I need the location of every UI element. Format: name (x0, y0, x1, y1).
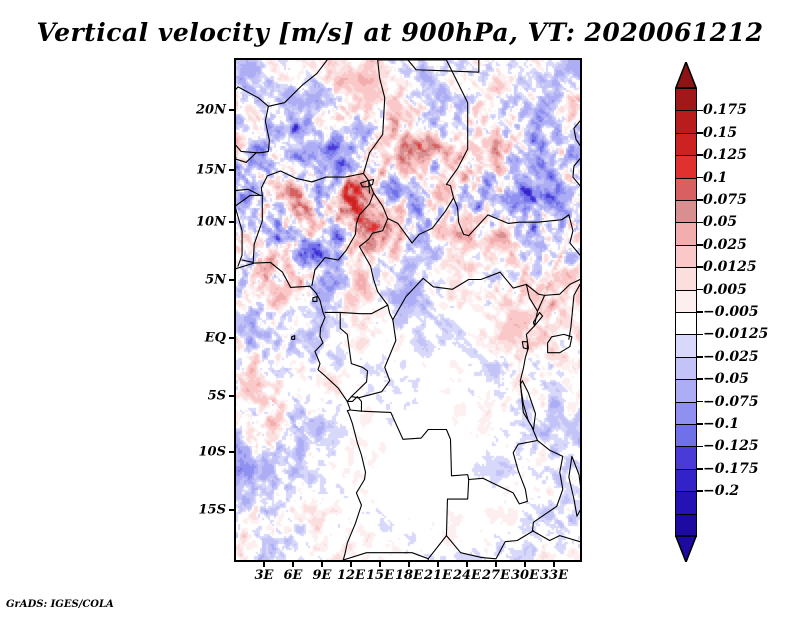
colorbar-tick (697, 356, 703, 358)
colorbar-tick (697, 110, 703, 112)
colorbar-label-8: 0.005 (703, 282, 747, 298)
colorbar[interactable] (675, 62, 697, 562)
lat-tick-mark (229, 221, 234, 223)
lon-tick-mark (553, 562, 555, 567)
lon-tick-mark (466, 562, 468, 567)
lon-tick-mark (408, 562, 410, 567)
lat-tick-mark (229, 169, 234, 171)
lon-tick-label-33e: 33E (540, 568, 568, 583)
colorbar-label-6: 0.025 (703, 237, 747, 253)
map-plot-area[interactable] (234, 58, 582, 562)
lat-tick-label-15s: 15S (174, 503, 226, 518)
colorbar-label-16: −0.175 (703, 461, 759, 477)
colorbar-label-10: −0.0125 (703, 326, 768, 342)
colorbar-label-11: −0.025 (703, 349, 759, 365)
lon-tick-label-6e: 6E (284, 568, 303, 583)
lat-tick-label-15n: 15N (174, 163, 226, 178)
colorbar-label-14: −0.1 (703, 416, 739, 432)
colorbar-tick (697, 154, 703, 156)
colorbar-arrow-caps (675, 62, 697, 562)
colorbar-tick (697, 378, 703, 380)
lat-tick-label-eq: EQ (174, 331, 226, 346)
lat-tick-label-10n: 10N (174, 215, 226, 230)
colorbar-tick (697, 334, 703, 336)
lat-tick-mark (229, 451, 234, 453)
colorbar-label-2: 0.125 (703, 147, 747, 163)
lon-tick-mark (524, 562, 526, 567)
lon-tick-label-30e: 30E (511, 568, 539, 583)
credit-text: GrADS: IGES/COLA (6, 599, 114, 610)
lat-tick-label-10s: 10S (174, 445, 226, 460)
lon-tick-label-24e: 24E (453, 568, 481, 583)
colorbar-tick (697, 244, 703, 246)
lat-tick-label-5s: 5S (174, 389, 226, 404)
lat-tick-mark (229, 395, 234, 397)
colorbar-tick (697, 311, 703, 313)
lon-tick-mark (350, 562, 352, 567)
colorbar-bottom-arrow (676, 536, 696, 562)
lon-tick-label-9e: 9E (313, 568, 332, 583)
colorbar-tick (697, 490, 703, 492)
colorbar-label-5: 0.05 (703, 214, 737, 230)
colorbar-label-3: 0.1 (703, 170, 727, 186)
lat-tick-mark (229, 109, 234, 111)
colorbar-tick (697, 446, 703, 448)
lat-tick-mark (229, 509, 234, 511)
colorbar-label-15: −0.125 (703, 438, 759, 454)
colorbar-tick (697, 199, 703, 201)
lon-tick-mark (321, 562, 323, 567)
colorbar-label-1: 0.15 (703, 125, 737, 141)
lat-tick-mark (229, 279, 234, 281)
lon-tick-label-12e: 12E (337, 568, 365, 583)
lon-tick-label-21e: 21E (424, 568, 452, 583)
lon-tick-label-3e: 3E (255, 568, 274, 583)
colorbar-label-9: −0.005 (703, 304, 759, 320)
colorbar-label-17: −0.2 (703, 483, 739, 499)
colorbar-label-12: −0.05 (703, 371, 749, 387)
colorbar-label-13: −0.075 (703, 394, 759, 410)
lat-tick-mark (229, 337, 234, 339)
lon-tick-mark (379, 562, 381, 567)
colorbar-label-4: 0.075 (703, 192, 747, 208)
colorbar-tick (697, 468, 703, 470)
vertical-velocity-field (236, 60, 580, 560)
lat-tick-label-20n: 20N (174, 103, 226, 118)
lon-tick-label-18e: 18E (395, 568, 423, 583)
lon-tick-mark (437, 562, 439, 567)
colorbar-tick (697, 289, 703, 291)
colorbar-tick (697, 266, 703, 268)
lat-tick-label-5n: 5N (174, 273, 226, 288)
colorbar-tick (697, 132, 703, 134)
colorbar-label-7: 0.0125 (703, 259, 757, 275)
lon-tick-label-15e: 15E (366, 568, 394, 583)
colorbar-tick (697, 177, 703, 179)
colorbar-tick (697, 423, 703, 425)
lon-tick-mark (292, 562, 294, 567)
lon-tick-mark (495, 562, 497, 567)
colorbar-top-arrow (676, 62, 696, 88)
lon-tick-mark (263, 562, 265, 567)
colorbar-tick (697, 401, 703, 403)
colorbar-tick (697, 222, 703, 224)
lon-tick-label-27e: 27E (482, 568, 510, 583)
colorbar-label-0: 0.175 (703, 102, 747, 118)
page-title: Vertical velocity [m/s] at 900hPa, VT: 2… (0, 18, 800, 47)
